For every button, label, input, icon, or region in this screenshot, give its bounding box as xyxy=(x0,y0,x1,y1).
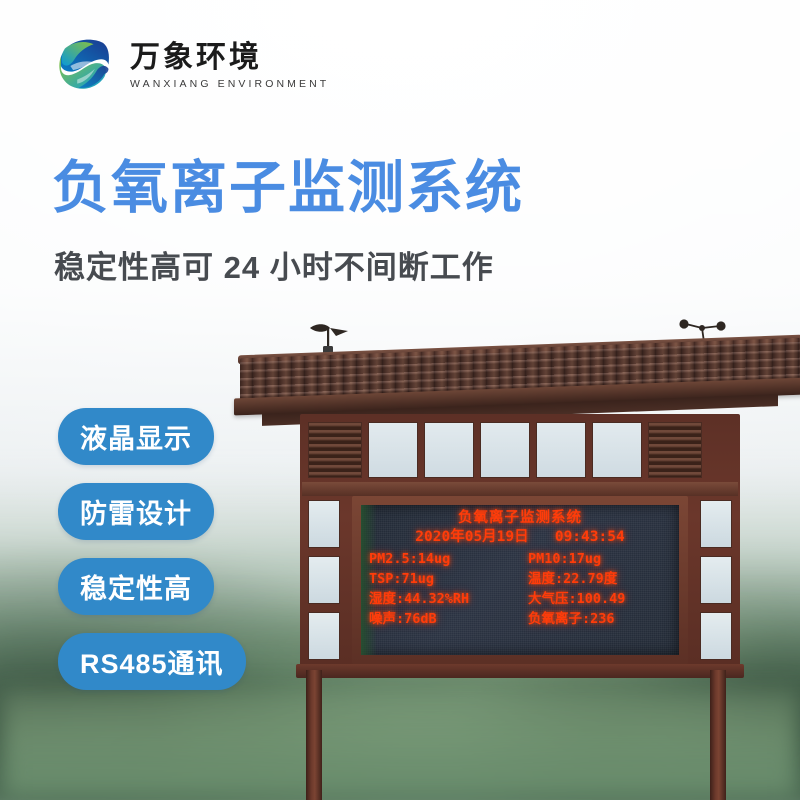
side-opening xyxy=(308,500,340,548)
support-post-right xyxy=(710,670,726,800)
side-opening xyxy=(700,556,732,604)
monitoring-station: 负氧离子监测系统 2020年05月19日 09:43:54 PM2.5:14ug… xyxy=(240,318,800,800)
reading-temperature: 温度:22.79度 xyxy=(520,570,671,588)
led-date: 2020年05月19日 xyxy=(415,529,528,545)
page-title: 负氧离子监测系统 xyxy=(52,160,524,217)
led-title: 负氧离子监测系统 xyxy=(369,510,671,527)
side-opening xyxy=(308,556,340,604)
brand-name-en: WANXIANG ENVIRONMENT xyxy=(130,78,329,90)
led-time: 09:43:54 xyxy=(555,529,625,545)
support-post-left xyxy=(306,670,322,800)
brand-logo: 万象环境 WANXIANG ENVIRONMENT xyxy=(50,32,329,100)
led-content: 负氧离子监测系统 2020年05月19日 09:43:54 PM2.5:14ug… xyxy=(361,505,679,655)
side-opening xyxy=(700,500,732,548)
cabinet-mid-rail xyxy=(302,482,738,496)
side-opening xyxy=(308,612,340,660)
sky-opening-2 xyxy=(424,422,474,478)
louver-vent-right xyxy=(648,422,702,478)
cabinet-bottom-beam xyxy=(296,664,744,678)
reading-tsp: TSP:71ug xyxy=(369,570,520,588)
louver-vent-left xyxy=(308,422,362,478)
led-screen-bezel: 负氧离子监测系统 2020年05月19日 09:43:54 PM2.5:14ug… xyxy=(352,496,688,664)
left-side-openings xyxy=(308,500,340,660)
reading-noise: 噪声:76dB xyxy=(369,610,520,628)
display-cabinet: 负氧离子监测系统 2020年05月19日 09:43:54 PM2.5:14ug… xyxy=(300,414,740,670)
sky-opening-3 xyxy=(480,422,530,478)
led-readings-grid: PM2.5:14ug PM10:17ug TSP:71ug 温度:22.79度 … xyxy=(369,550,671,629)
reading-humidity: 湿度:44.32%RH xyxy=(369,590,520,608)
promo-banner: 万象环境 WANXIANG ENVIRONMENT 负氧离子监测系统 稳定性高可… xyxy=(0,0,800,800)
reading-pressure: 大气压:100.49 xyxy=(520,590,671,608)
sky-opening-5 xyxy=(592,422,642,478)
feature-badge-lcd[interactable]: 液晶显示 xyxy=(58,408,214,465)
page-subtitle: 稳定性高可 24 小时不间断工作 xyxy=(54,242,494,287)
led-datetime: 2020年05月19日 09:43:54 xyxy=(369,528,671,547)
tiled-roof xyxy=(240,348,800,418)
brand-name-cn: 万象环境 xyxy=(130,42,329,74)
feature-badge-list: 液晶显示 防雷设计 稳定性高 RS485通讯 xyxy=(58,408,246,690)
reading-negative-oxygen-ions: 负氧离子:236 xyxy=(520,610,671,628)
side-opening xyxy=(700,612,732,660)
led-screen[interactable]: 负氧离子监测系统 2020年05月19日 09:43:54 PM2.5:14ug… xyxy=(361,505,679,655)
sky-opening-1 xyxy=(368,422,418,478)
sky-opening-4 xyxy=(536,422,586,478)
feature-badge-lightning[interactable]: 防雷设计 xyxy=(58,483,214,540)
feature-badge-stability[interactable]: 稳定性高 xyxy=(58,558,214,615)
right-side-openings xyxy=(700,500,732,660)
globe-swirl-icon xyxy=(50,32,118,100)
feature-badge-rs485[interactable]: RS485通讯 xyxy=(58,633,246,690)
reading-pm25: PM2.5:14ug xyxy=(369,550,520,568)
upper-vent-band xyxy=(308,422,732,478)
reading-pm10: PM10:17ug xyxy=(520,550,671,568)
